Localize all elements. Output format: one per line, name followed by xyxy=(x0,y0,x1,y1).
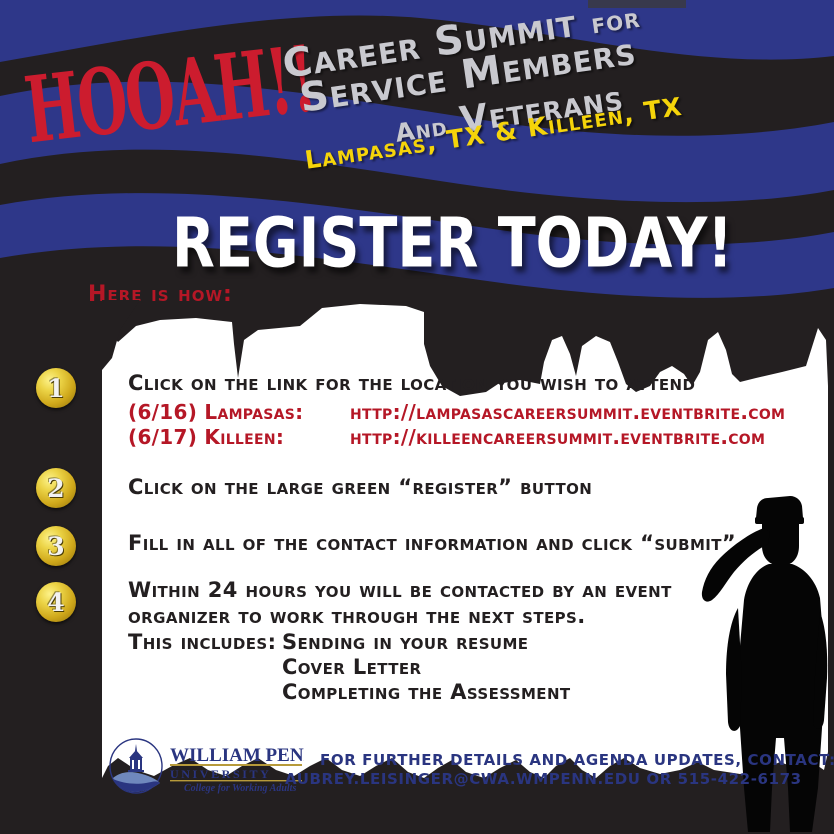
step-1-link-label-lampasas: (6/16) Lampasas: xyxy=(128,400,303,424)
step-badge-2: 2 xyxy=(36,468,76,508)
step-badge-4-number: 4 xyxy=(47,590,64,615)
step-badge-1: 1 xyxy=(36,368,76,408)
step-4-sub-item-1: Sending in your resume xyxy=(282,630,528,654)
step-1-link-url-lampasas[interactable]: http://lampasascareersummit.eventbrite.c… xyxy=(350,400,785,424)
step-3-text: Fill in all of the contact information a… xyxy=(128,531,736,555)
step-4-sub-item-3: Completing the Assessment xyxy=(282,680,571,704)
step-4-includes-label: This includes: xyxy=(128,630,276,654)
footer-contact-line-2[interactable]: aubrey.leisinger@cwa.wmpenn.edu or 515-4… xyxy=(285,770,802,788)
step-4-sub-item-2: Cover Letter xyxy=(282,655,422,679)
step-4-line-1: Within 24 hours you will be contacted by… xyxy=(128,578,672,602)
footer-contact-line-1: for further details and agenda updates, … xyxy=(320,751,834,769)
logo-tagline: College for Working Adults xyxy=(184,783,296,794)
register-today-headline: REGISTER TODAY! xyxy=(172,203,733,283)
step-badge-1-number: 1 xyxy=(47,376,64,401)
logo-name-line-1: WILLIAM PENN xyxy=(170,745,304,766)
step-1-link-label-killeen: (6/17) Killeen: xyxy=(128,425,284,449)
step-1-link-url-killeen[interactable]: http://killeencareersummit.eventbrite.co… xyxy=(350,425,765,449)
step-badge-4: 4 xyxy=(36,582,76,622)
flyer-canvas: HOOAH!! Career Summit for Service Member… xyxy=(0,0,834,834)
step-badge-2-number: 2 xyxy=(47,476,64,501)
step-badge-3: 3 xyxy=(36,526,76,566)
step-4-line-2: organizer to work through the next steps… xyxy=(128,604,586,628)
logo-name-line-2: UNIVERSITY xyxy=(170,767,271,781)
william-penn-university-logo: WILLIAM PENN UNIVERSITY College for Work… xyxy=(108,738,304,794)
step-badge-3-number: 3 xyxy=(47,534,64,559)
step-1-text: Click on the link for the location you w… xyxy=(128,371,695,395)
step-2-text: Click on the large green “register” butt… xyxy=(128,475,592,499)
